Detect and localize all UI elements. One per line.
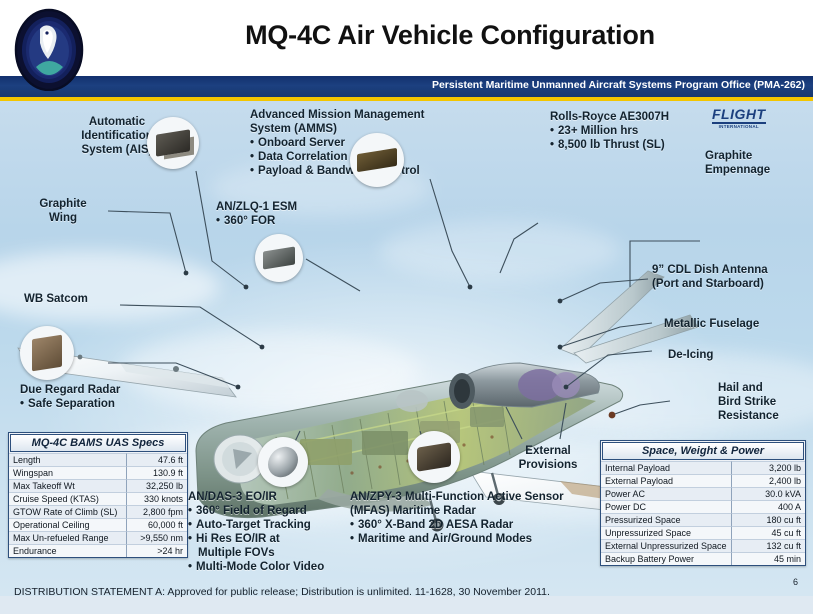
callout-de-icing: De-Icing xyxy=(668,348,713,362)
table-row: Wingspan 130.9 ft xyxy=(9,466,187,479)
table-row: GTOW Rate of Climb (SL) 2,800 fpm xyxy=(9,505,187,518)
callout-hail-bird-strike: Hail and Bird Strike Resistance xyxy=(718,381,779,423)
table-row: Cruise Speed (KTAS) 330 knots xyxy=(9,492,187,505)
list-item: 360° Field of Regard xyxy=(188,504,324,518)
pma-262-seal-icon xyxy=(12,5,86,91)
space-weight-power-table: Space, Weight & Power Internal Payload 3… xyxy=(600,440,806,566)
page-title: MQ-4C Air Vehicle Configuration xyxy=(100,20,800,51)
table-row: Unpressurized Space 45 cu ft xyxy=(601,526,805,539)
mq4c-specs-table: MQ-4C BAMS UAS Specs Length 47.6 ft Wing… xyxy=(8,432,188,558)
eoir-bullets: 360° Field of Regard Auto-Target Trackin… xyxy=(188,504,324,546)
swap-table-title: Space, Weight & Power xyxy=(602,442,804,460)
flight-logo-sub: INTERNATIONAL xyxy=(712,124,766,129)
list-item: 23+ Million hrs xyxy=(550,124,669,138)
eoir-bullets-last: Multi-Mode Color Video xyxy=(188,560,324,574)
esm-module-icon xyxy=(263,246,295,269)
callout-metallic-fuselage: Metallic Fuselage xyxy=(664,317,759,331)
table-row: External Payload 2,400 lb xyxy=(601,474,805,487)
footer-strip xyxy=(0,596,813,614)
table-row: Max Takeoff Wt 32,250 lb xyxy=(9,479,187,492)
table-row: Backup Battery Power 45 min xyxy=(601,552,805,565)
mfas-bullets: 360° X-Band 2D AESA Radar Maritime and A… xyxy=(350,518,564,546)
table-row: External Unpressurized Space 132 cu ft xyxy=(601,539,805,552)
mfas-radar-icon xyxy=(417,442,451,471)
amms-server-icon xyxy=(357,148,397,172)
table-row: Power AC 30.0 kVA xyxy=(601,487,805,500)
engine-bullets: 23+ Million hrs 8,500 lb Thrust (SL) xyxy=(550,124,669,152)
eoir-continuation: Multiple FOVs xyxy=(188,546,324,560)
esm-bullets: 360° FOR xyxy=(216,214,297,228)
program-office-banner: Persistent Maritime Unmanned Aircraft Sy… xyxy=(0,76,813,97)
due-regard-radar-inset xyxy=(20,326,74,380)
ais-antenna-icon xyxy=(156,129,190,156)
specs-table-body: Length 47.6 ft Wingspan 130.9 ft Max Tak… xyxy=(9,453,187,557)
table-row: Internal Payload 3,200 lb xyxy=(601,461,805,474)
distribution-statement: DISTRIBUTION STATEMENT A: Approved for p… xyxy=(14,586,550,598)
list-item: Auto-Target Tracking xyxy=(188,518,324,532)
list-item: 360° FOR xyxy=(216,214,297,228)
eoir-turret-icon xyxy=(268,445,298,480)
slide: MQ-4C Air Vehicle Configuration Persiste… xyxy=(0,0,813,614)
list-item: 360° X-Band 2D AESA Radar xyxy=(350,518,564,532)
list-item: Maritime and Air/Ground Modes xyxy=(350,532,564,546)
list-item: 8,500 lb Thrust (SL) xyxy=(550,138,669,152)
swap-table-body: Internal Payload 3,200 lb External Paylo… xyxy=(601,461,805,565)
due-regard-radar-icon xyxy=(32,335,62,372)
callout-external-provisions: External Provisions xyxy=(505,444,591,472)
table-row: Endurance >24 hr xyxy=(9,544,187,557)
flight-international-logo: FLIGHT INTERNATIONAL xyxy=(712,107,766,129)
list-item: Multi-Mode Color Video xyxy=(188,560,324,574)
specs-table-title: MQ-4C BAMS UAS Specs xyxy=(10,434,186,452)
esm-module-inset xyxy=(255,234,303,282)
callout-due-regard-radar: Due Regard Radar Safe Separation xyxy=(20,383,120,411)
callout-empennage: Graphite Empennage xyxy=(705,149,770,177)
table-row: Operational Ceiling 60,000 ft xyxy=(9,518,187,531)
callout-wb-satcom: WB Satcom xyxy=(24,292,88,306)
callout-eoir: AN/DAS-3 EO/IR 360° Field of Regard Auto… xyxy=(188,490,324,574)
table-row: Max Un-refueled Range >9,550 nm xyxy=(9,531,187,544)
banner-text: Persistent Maritime Unmanned Aircraft Sy… xyxy=(432,79,805,91)
mfas-radar-inset xyxy=(408,431,460,483)
flight-logo-main: FLIGHT xyxy=(712,107,766,124)
eoir-turret-inset xyxy=(258,437,308,487)
list-item: Hi Res EO/IR at xyxy=(188,532,324,546)
callout-cdl-antenna: 9” CDL Dish Antenna (Port and Starboard) xyxy=(652,263,768,291)
callout-engine: Rolls-Royce AE3007H 23+ Million hrs 8,50… xyxy=(550,110,669,152)
table-row: Length 47.6 ft xyxy=(9,453,187,466)
slide-header: MQ-4C Air Vehicle Configuration xyxy=(0,0,813,76)
amms-server-inset xyxy=(350,133,404,187)
callout-esm: AN/ZLQ-1 ESM 360° FOR xyxy=(216,200,297,228)
page-number: 6 xyxy=(793,577,798,587)
table-row: Pressurized Space 180 cu ft xyxy=(601,513,805,526)
list-item: Safe Separation xyxy=(20,397,120,411)
table-row: Power DC 400 A xyxy=(601,500,805,513)
callout-mfas: AN/ZPY-3 Multi-Function Active Sensor (M… xyxy=(350,490,564,546)
due-regard-bullets: Safe Separation xyxy=(20,397,120,411)
callout-graphite-wing: Graphite Wing xyxy=(20,197,106,225)
ais-antenna-inset xyxy=(147,117,199,169)
